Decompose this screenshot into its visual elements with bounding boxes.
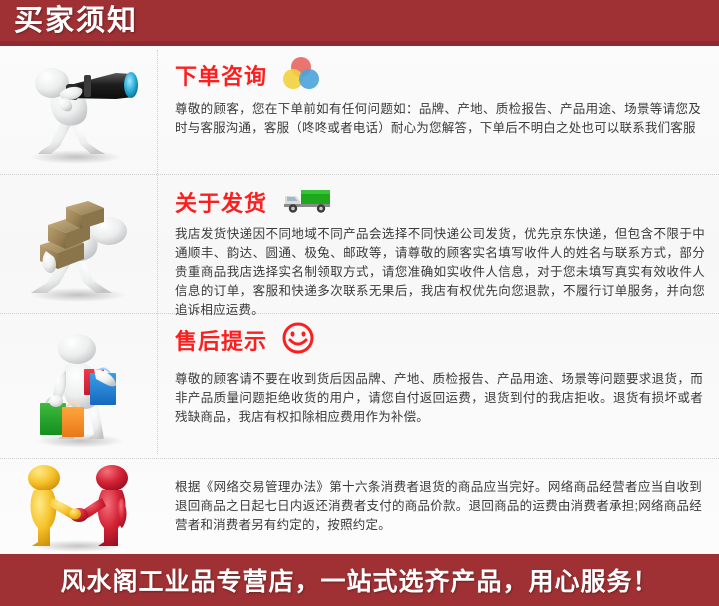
section-title: 关于发货 [175, 186, 267, 218]
page-title: 买家须知 [14, 4, 138, 38]
section-title: 售后提示 [175, 324, 267, 356]
section-title: 下单咨询 [175, 59, 267, 91]
delivery-truck-icon [281, 185, 333, 220]
figure-with-shopping-bags [0, 313, 157, 458]
section-regulation-notice: 根据《网络交易管理办法》第十六条消费者退货的商品应当完好。网络商品经营者应当自收… [0, 458, 719, 554]
figure-carrying-boxes [0, 174, 157, 313]
footer-slogan: 风水阁工业品专营店，一站式选齐产品，用心服务！ [60, 562, 658, 598]
after-sales-body: 售后提示 尊敬的顾客请不要在收到货后因品牌、产地、质检报告、产品用途、场景等问题… [175, 313, 711, 458]
section-order-consultation: 下单咨询 尊敬的顾客，您在下单前如有任何问题如：品牌、产地、质检报告、产品用途、… [0, 46, 719, 174]
smiley-face-icon [281, 321, 315, 360]
about-shipping-body: 关于发货 [175, 174, 711, 313]
section-text: 尊敬的顾客，您在下单前如有任何问题如：品牌、产地、质检报告、产品用途、场景等请您… [175, 100, 705, 138]
order-consultation-body: 下单咨询 尊敬的顾客，您在下单前如有任何问题如：品牌、产地、质检报告、产品用途、… [175, 46, 711, 174]
section-text: 根据《网络交易管理办法》第十六条消费者退货的商品应当完好。网络商品经营者应当自收… [175, 478, 706, 535]
section-about-shipping: 关于发货 [0, 174, 719, 313]
section-text: 尊敬的顾客请不要在收到货后因品牌、产地、质检报告、产品用途、场景等问题要求退货，… [175, 370, 707, 427]
after-sales-heading: 售后提示 [175, 321, 711, 359]
section-after-sales: 售后提示 尊敬的顾客请不要在收到货后因品牌、产地、质检报告、产品用途、场景等问题… [0, 313, 719, 458]
buyer-notice-graphic: 买家须知 [0, 0, 719, 606]
two-figures-handshake [0, 458, 157, 554]
regulation-notice-body: 根据《网络交易管理办法》第十六条消费者退货的商品应当完好。网络商品经营者应当自收… [175, 458, 711, 554]
footer-banner: 风水阁工业品专营店，一站式选齐产品，用心服务！ [0, 554, 719, 606]
notice-content: 下单咨询 尊敬的顾客，您在下单前如有任何问题如：品牌、产地、质检报告、产品用途、… [0, 46, 719, 554]
venn-circles-icon [281, 56, 321, 95]
about-shipping-heading: 关于发货 [175, 183, 711, 221]
header-banner: 买家须知 [0, 0, 719, 46]
section-text: 我店发货快递因不同地域不同产品会选择不同快递公司发货，优先京东快递，但包含不限于… [175, 225, 709, 320]
order-consultation-heading: 下单咨询 [175, 56, 711, 94]
figure-with-telescope [0, 46, 157, 174]
